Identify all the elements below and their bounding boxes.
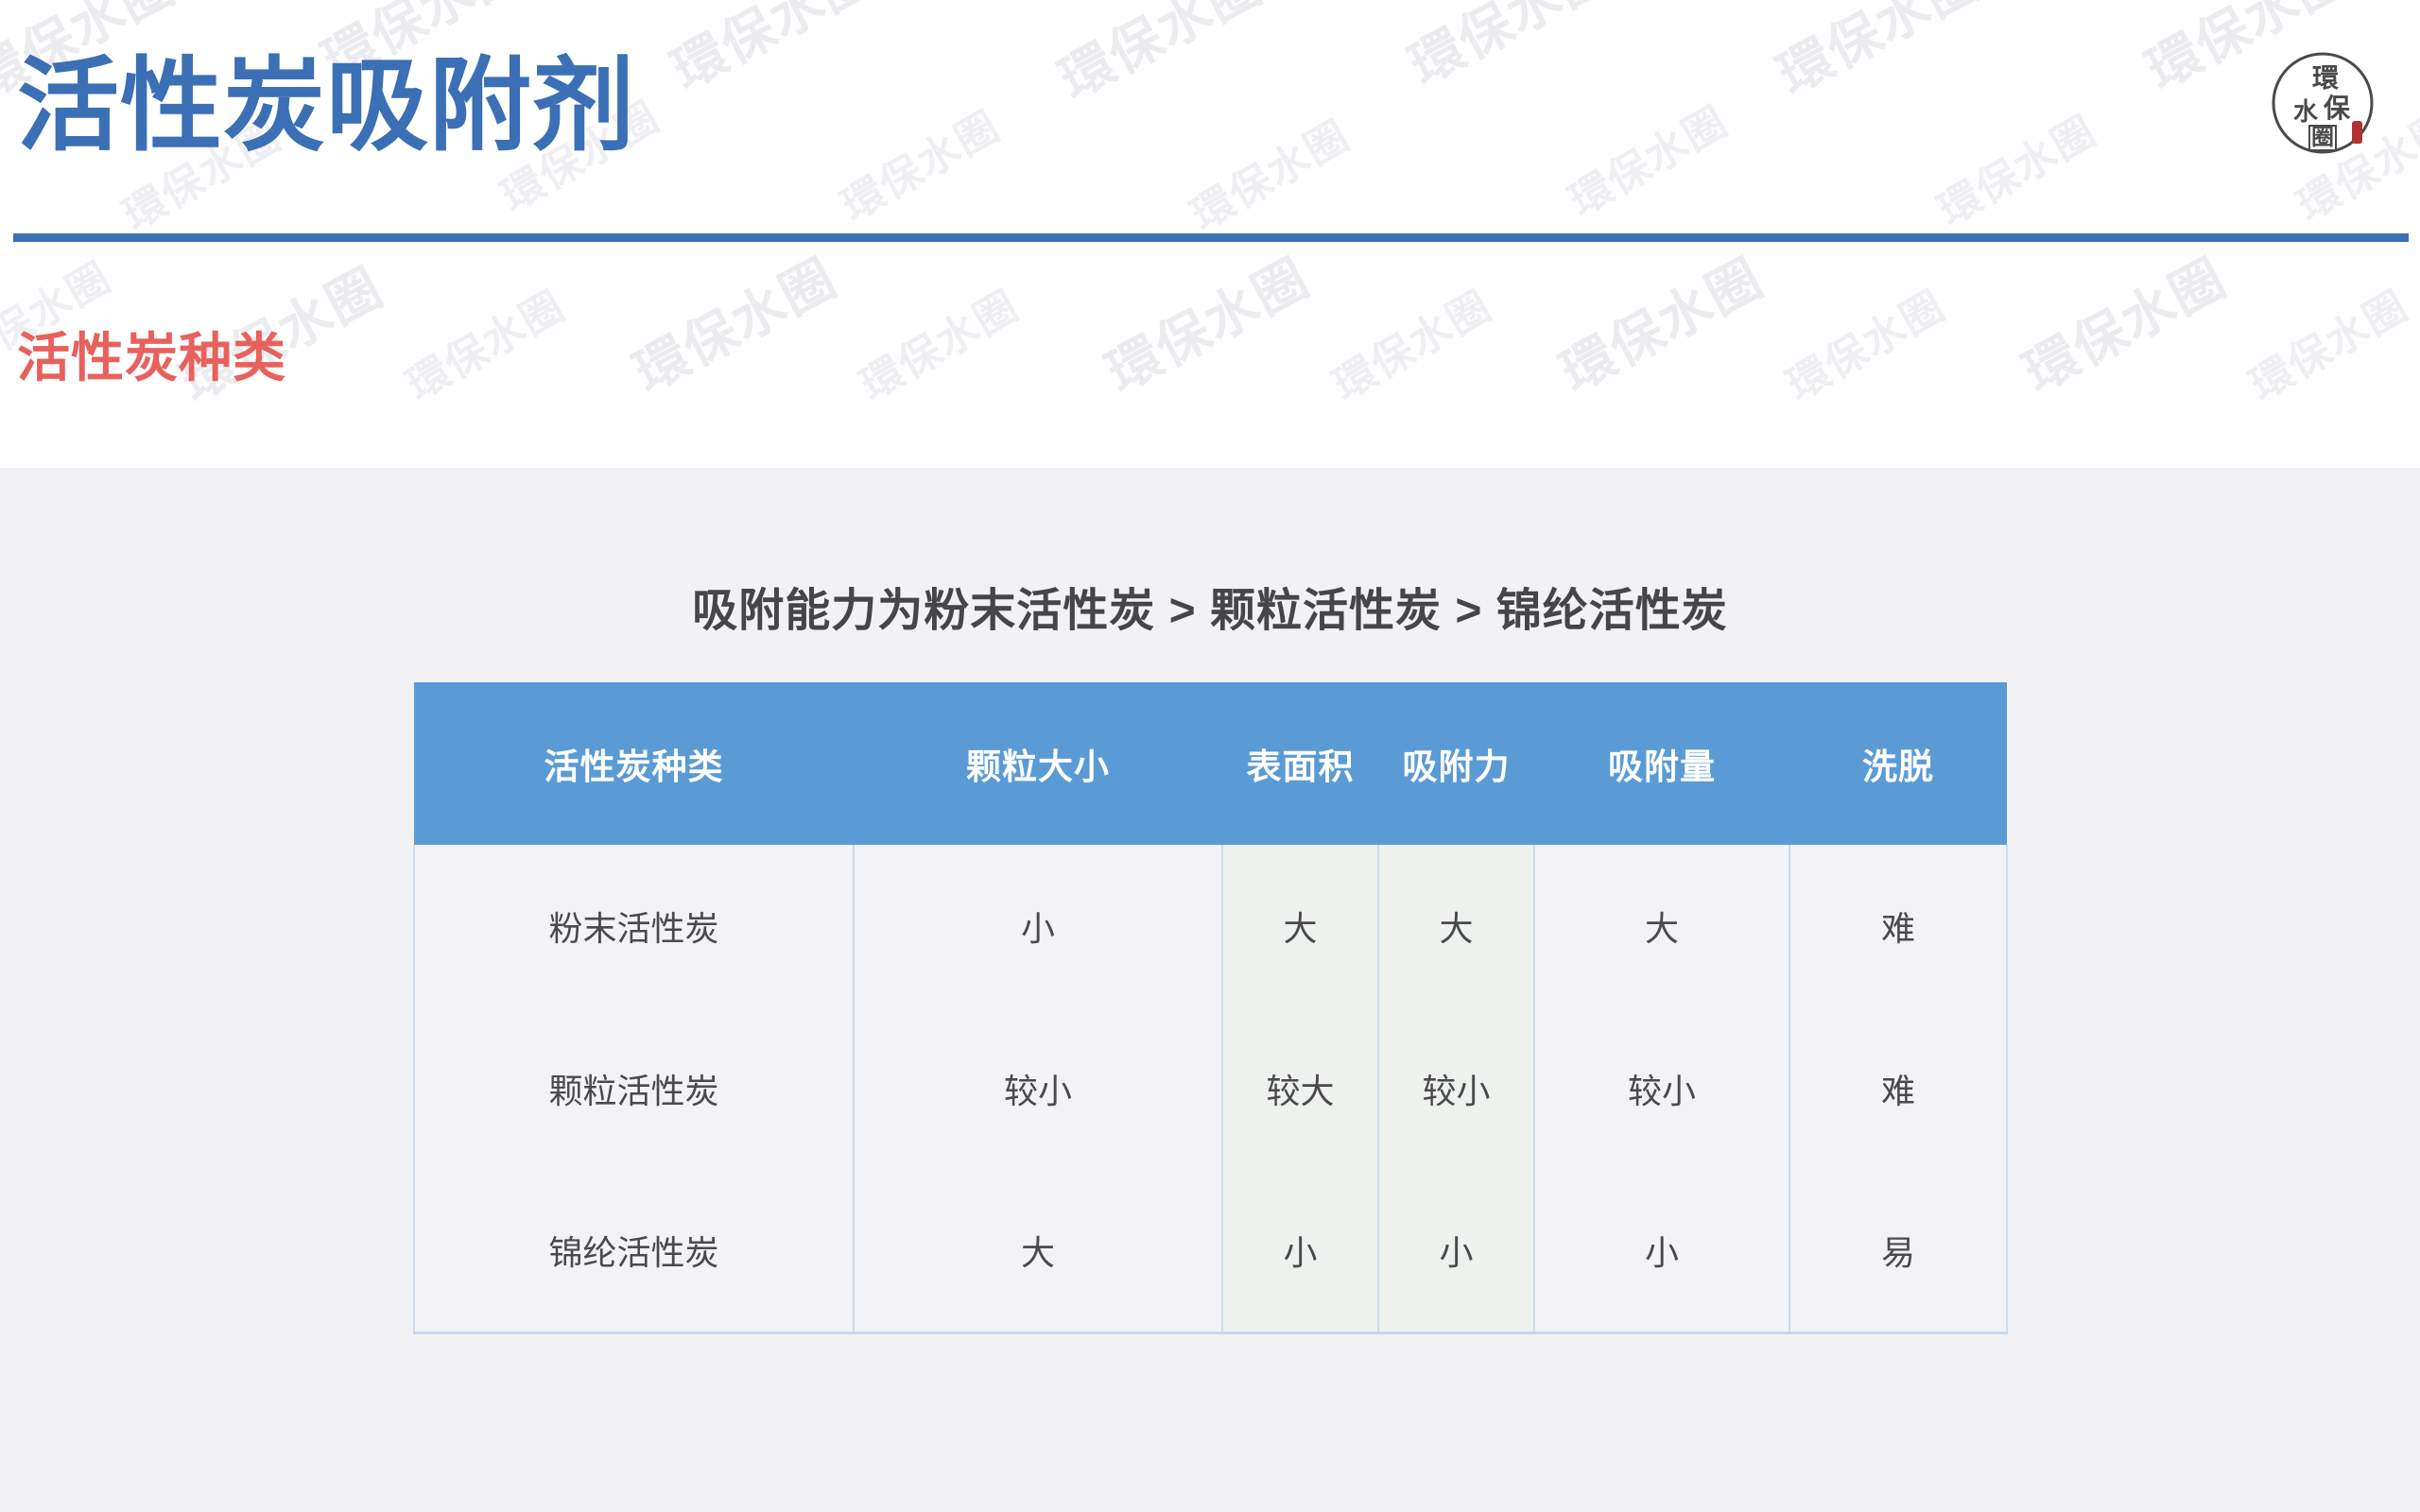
column-header-elution: 洗脱 [1789, 682, 2007, 845]
seal-char-3: 水 [2293, 100, 2318, 125]
column-header-type: 活性炭种类 [414, 682, 854, 845]
cell-area: 大 [1222, 845, 1378, 1007]
seal-char-4: 圈 [2308, 125, 2337, 151]
comparison-table: 活性炭种类 颗粒大小 表面积 吸附力 吸附量 洗脱 粉末活性炭 小 大 大 大 … [413, 682, 2008, 1334]
page-title: 活性炭吸附剂 [17, 49, 635, 163]
table-body: 粉末活性炭 小 大 大 大 难 颗粒活性炭 较小 较大 较小 较小 难 锦纶活性… [414, 845, 2007, 1332]
cell-size: 小 [854, 845, 1222, 1007]
seal-characters: 環 保 水 圈 [2265, 45, 2380, 161]
table-row: 颗粒活性炭 较小 较大 较小 较小 难 [414, 1007, 2007, 1170]
cell-capacity: 大 [1534, 845, 1789, 1007]
cell-elution: 难 [1789, 845, 2007, 1007]
column-header-area: 表面积 [1222, 682, 1378, 845]
cell-type: 粉末活性炭 [414, 845, 854, 1007]
cell-type: 锦纶活性炭 [414, 1170, 854, 1332]
slide-root: 環保水圈 環保水圈 環保水圈 環保水圈 環保水圈 環保水圈 環保水圈 環保水圈 … [0, 0, 2420, 1512]
comparison-table-wrap: 活性炭种类 颗粒大小 表面积 吸附力 吸附量 洗脱 粉末活性炭 小 大 大 大 … [413, 682, 2006, 1334]
cell-force: 大 [1378, 845, 1534, 1007]
cell-force: 较小 [1378, 1007, 1534, 1170]
cell-type: 颗粒活性炭 [414, 1007, 854, 1170]
section-subtitle: 活性炭种类 [17, 329, 286, 387]
column-header-capacity: 吸附量 [1534, 682, 1789, 845]
cell-size: 较小 [854, 1007, 1222, 1170]
cell-area: 小 [1222, 1170, 1378, 1332]
seal-char-1: 環 [2312, 66, 2339, 93]
column-header-size: 颗粒大小 [854, 682, 1222, 845]
cell-force: 小 [1378, 1170, 1534, 1332]
seal-char-2: 保 [2324, 96, 2350, 123]
cell-capacity: 较小 [1534, 1007, 1789, 1170]
table-row: 粉末活性炭 小 大 大 大 难 [414, 845, 2007, 1007]
title-divider [13, 233, 2409, 242]
cell-size: 大 [854, 1170, 1222, 1332]
slide-header: 活性炭吸附剂 活性炭种类 [0, 0, 2420, 468]
column-header-force: 吸附力 [1378, 682, 1534, 845]
table-row: 锦纶活性炭 大 小 小 小 易 [414, 1170, 2007, 1332]
cell-elution: 难 [1789, 1007, 2007, 1170]
brand-logo: 環 保 水 圈 [2265, 45, 2380, 161]
seal-red-mark [2352, 121, 2362, 144]
table-caption: 吸附能力为粉末活性炭 > 颗粒活性炭 > 锦纶活性炭 [0, 573, 2420, 639]
table-head: 活性炭种类 颗粒大小 表面积 吸附力 吸附量 洗脱 [414, 682, 2007, 845]
cell-area: 较大 [1222, 1007, 1378, 1170]
cell-capacity: 小 [1534, 1170, 1789, 1332]
cell-elution: 易 [1789, 1170, 2007, 1332]
table-header-row: 活性炭种类 颗粒大小 表面积 吸附力 吸附量 洗脱 [414, 682, 2007, 845]
